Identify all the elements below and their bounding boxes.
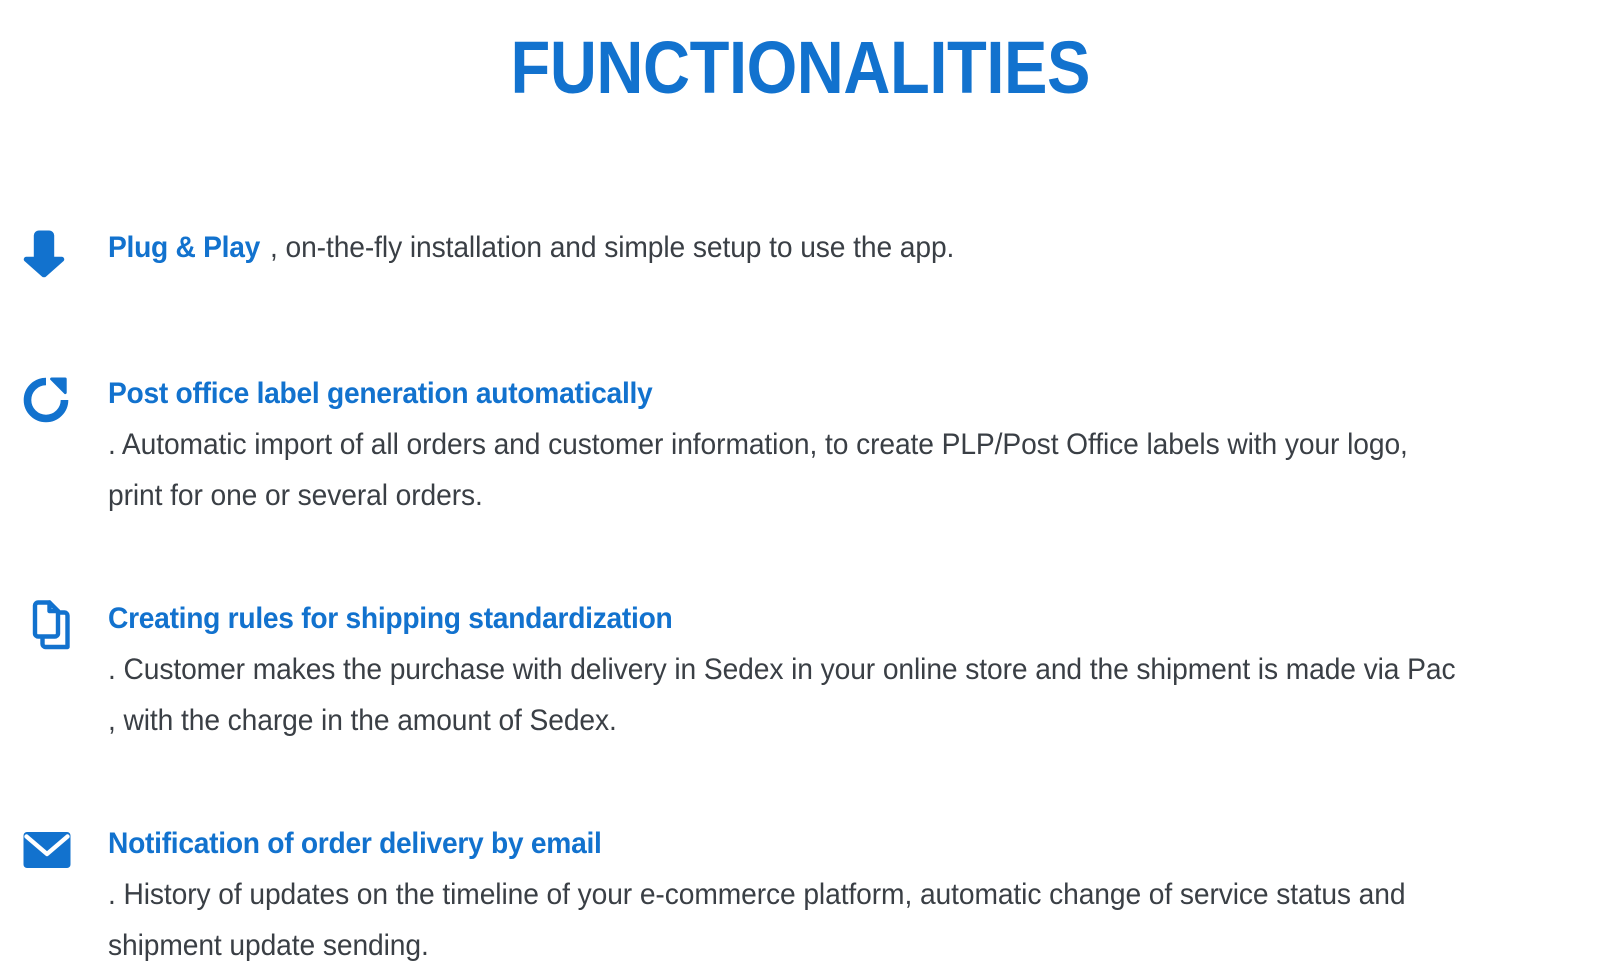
feature-text: Plug & Play, on-the-fly installation and… xyxy=(108,222,1556,273)
feature-text: Notification of order delivery by email.… xyxy=(108,818,1556,971)
feature-description: , on-the-fly installation and simple set… xyxy=(270,222,954,273)
feature-description: . Automatic import of all orders and cus… xyxy=(108,419,1469,521)
feature-text: Post office label generation automatical… xyxy=(108,368,1556,521)
list-item: Notification of order delivery by email.… xyxy=(0,818,1600,971)
feature-text: Creating rules for shipping standardizat… xyxy=(108,593,1556,746)
refresh-circular-arrow-icon xyxy=(22,375,70,425)
feature-lead: Post office label generation automatical… xyxy=(108,368,652,419)
feature-lead: Plug & Play xyxy=(108,222,260,273)
feature-text-cell: Notification of order delivery by email.… xyxy=(108,818,1600,971)
page-title: FUNCTIONALITIES xyxy=(510,26,1089,110)
feature-description: . Customer makes the purchase with deliv… xyxy=(108,644,1469,746)
down-arrow-icon xyxy=(22,228,66,280)
feature-icon-cell xyxy=(22,368,108,428)
feature-icon-cell xyxy=(22,593,108,653)
envelope-icon xyxy=(22,830,72,870)
feature-list: Plug & Play, on-the-fly installation and… xyxy=(0,222,1600,971)
list-item: Creating rules for shipping standardizat… xyxy=(0,593,1600,746)
list-item: Post office label generation automatical… xyxy=(0,368,1600,521)
page-title-container: FUNCTIONALITIES xyxy=(0,26,1600,110)
feature-description: . History of updates on the timeline of … xyxy=(108,869,1469,971)
feature-icon-cell xyxy=(22,818,108,878)
feature-text-cell: Plug & Play, on-the-fly installation and… xyxy=(108,222,1600,273)
feature-lead: Creating rules for shipping standardizat… xyxy=(108,593,672,644)
feature-text-cell: Creating rules for shipping standardizat… xyxy=(108,593,1600,746)
feature-text-cell: Post office label generation automatical… xyxy=(108,368,1600,521)
feature-lead: Notification of order delivery by email xyxy=(108,818,602,869)
copy-documents-icon xyxy=(22,599,72,651)
slide-root: FUNCTIONALITIES Plug & Play, on-the-fly … xyxy=(0,0,1600,900)
list-item: Plug & Play, on-the-fly installation and… xyxy=(0,222,1600,282)
feature-icon-cell xyxy=(22,222,108,282)
